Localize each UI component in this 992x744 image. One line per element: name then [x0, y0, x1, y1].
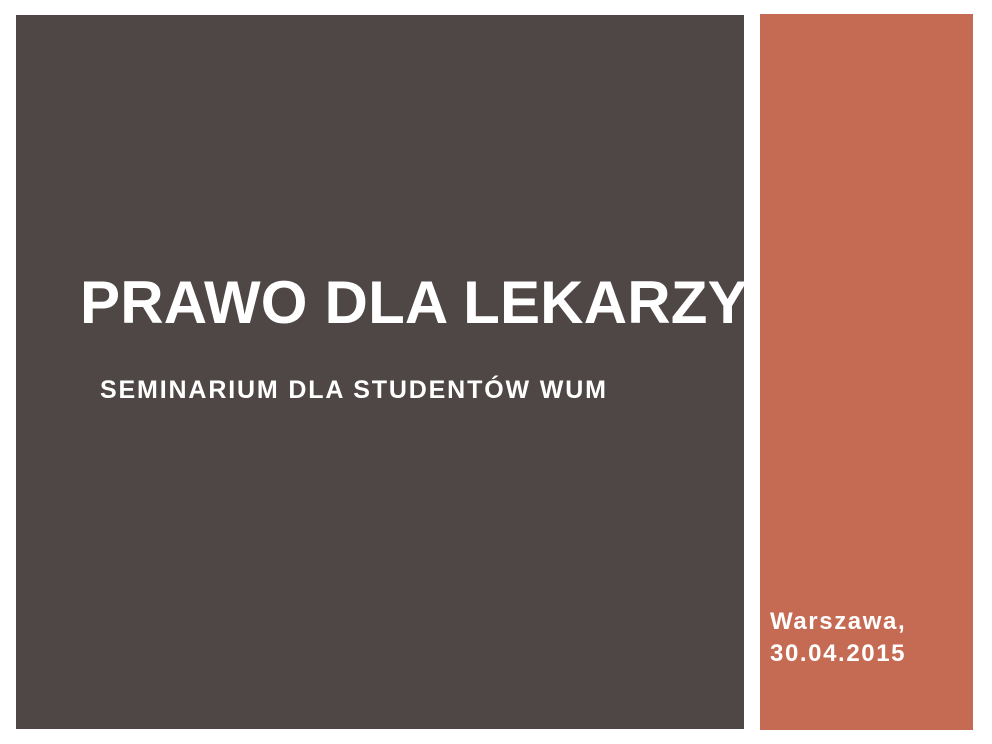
date-text-block: Warszawa, 30.04.2015 — [770, 606, 965, 671]
presentation-slide: PRAWO DLA LEKARZY SEMINARIUM DLA STUDENT… — [0, 0, 992, 744]
slide-title: PRAWO DLA LEKARZY — [80, 271, 720, 335]
title-panel: PRAWO DLA LEKARZY SEMINARIUM DLA STUDENT… — [16, 15, 744, 729]
date-line-location: Warszawa, — [770, 606, 965, 638]
date-accent-panel: Warszawa, 30.04.2015 — [760, 14, 973, 730]
date-line-date: 30.04.2015 — [770, 638, 965, 670]
slide-subtitle: SEMINARIUM DLA STUDENTÓW WUM — [100, 375, 740, 405]
